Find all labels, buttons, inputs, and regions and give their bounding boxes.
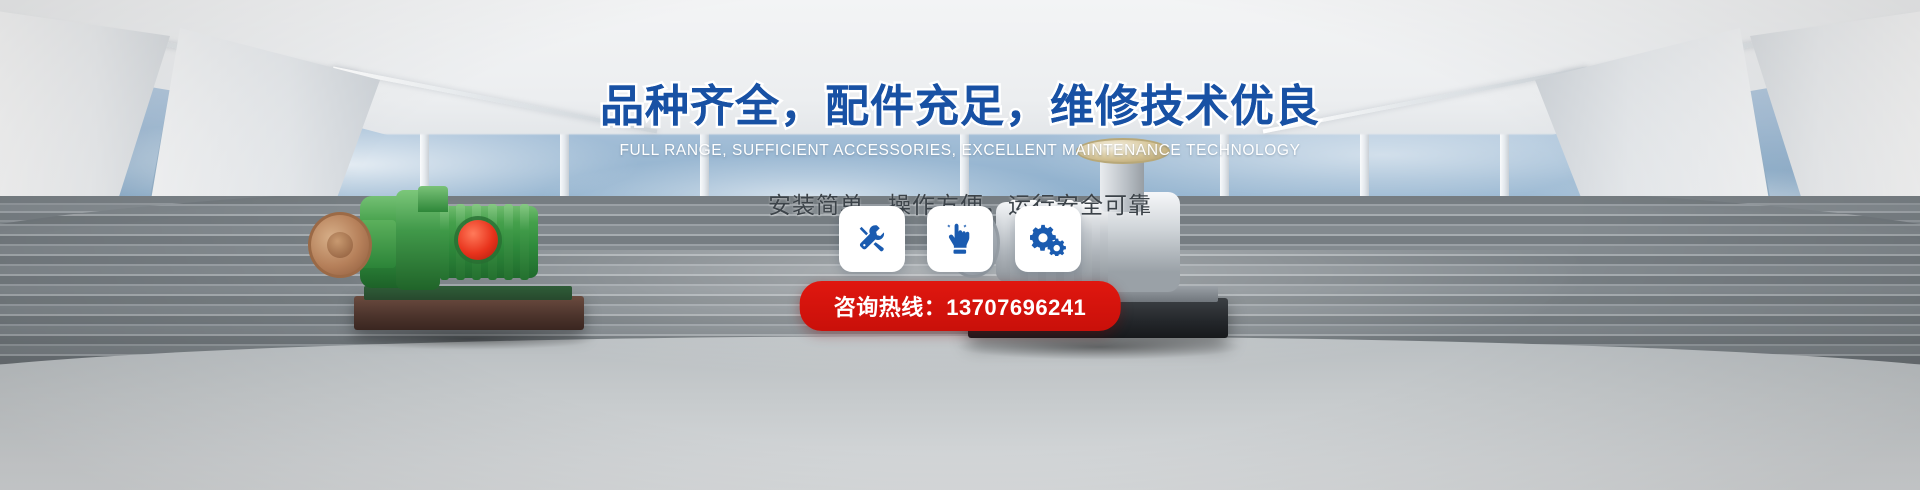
banner-content: 品种齐全，配件充足，维修技术优良 品种齐全，配件充足，维修技术优良 FULL R… <box>0 0 1920 490</box>
hand-pointer-icon <box>944 222 976 256</box>
promotional-banner: 品种齐全，配件充足，维修技术优良 品种齐全，配件充足，维修技术优良 FULL R… <box>0 0 1920 490</box>
page-title: 品种齐全，配件充足，维修技术优良 <box>0 70 1920 134</box>
gears-icon <box>1030 222 1066 256</box>
wrench-screwdriver-icon <box>855 222 889 256</box>
gears-icon-badge[interactable] <box>1015 206 1081 272</box>
wrench-screwdriver-icon-badge[interactable] <box>839 206 905 272</box>
hand-pointer-icon-badge[interactable] <box>927 206 993 272</box>
subtitle-english: FULL RANGE, SUFFICIENT ACCESSORIES, EXCE… <box>0 142 1920 160</box>
hotline-pill[interactable]: 咨询热线：13707696241 <box>800 281 1121 331</box>
feature-icon-row <box>0 206 1920 272</box>
hotline-text: 咨询热线：13707696241 <box>834 295 1087 320</box>
